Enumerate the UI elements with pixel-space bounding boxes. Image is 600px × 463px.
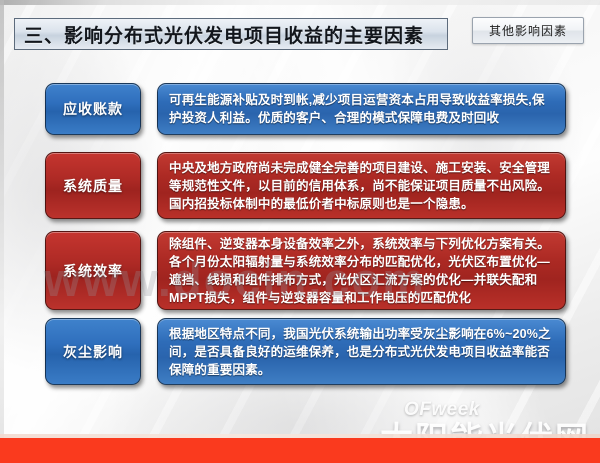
factor-row: 系统效率 除组件、逆变器本身设备效率之外，系统效率与下列优化方案有关。各个月份太… <box>45 231 566 310</box>
factor-body-text: 根据地区特点不同，我国光伏系统输出功率受灰尘影响在6%~20%之间，是否具备良好… <box>169 325 554 379</box>
factor-body-dust-impact[interactable]: 根据地区特点不同，我国光伏系统输出功率受灰尘影响在6%~20%之间，是否具备良好… <box>157 318 566 385</box>
factor-body-text: 可再生能源补贴及时到帐,减少项目运营资本占用导致收益率损失,保护投资人利益。优质… <box>169 91 554 127</box>
factor-label-text: 灰尘影响 <box>63 342 123 362</box>
factor-label-dust-impact[interactable]: 灰尘影响 <box>45 318 141 385</box>
factor-row: 应收账款 可再生能源补贴及时到帐,减少项目运营资本占用导致收益率损失,保护投资人… <box>45 83 566 135</box>
factor-label-system-efficiency[interactable]: 系统效率 <box>45 231 141 310</box>
factor-row: 系统质量 中央及地方政府尚未完成健全完善的项目建设、施工安装、安全管理等规范性文… <box>45 152 566 219</box>
factor-label-text: 应收账款 <box>63 99 123 119</box>
factor-rows: 应收账款 可再生能源补贴及时到帐,减少项目运营资本占用导致收益率损失,保护投资人… <box>0 0 600 463</box>
factor-body-text: 除组件、逆变器本身设备效率之外，系统效率与下列优化方案有关。各个月份太阳辐射量与… <box>169 235 554 307</box>
bottom-red-bar <box>0 438 600 463</box>
factor-body-system-quality[interactable]: 中央及地方政府尚未完成健全完善的项目建设、施工安装、安全管理等规范性文件，以目前… <box>157 152 566 219</box>
factor-body-system-efficiency[interactable]: 除组件、逆变器本身设备效率之外，系统效率与下列优化方案有关。各个月份太阳辐射量与… <box>157 231 566 310</box>
factor-body-text: 中央及地方政府尚未完成健全完善的项目建设、施工安装、安全管理等规范性文件，以目前… <box>169 159 554 213</box>
factor-row: 灰尘影响 根据地区特点不同，我国光伏系统输出功率受灰尘影响在6%~20%之间，是… <box>45 318 566 385</box>
factor-label-text: 系统效率 <box>63 261 123 281</box>
factor-label-text: 系统质量 <box>63 176 123 196</box>
factor-label-system-quality[interactable]: 系统质量 <box>45 152 141 219</box>
factor-body-receivables[interactable]: 可再生能源补贴及时到帐,减少项目运营资本占用导致收益率损失,保护投资人利益。优质… <box>157 83 566 135</box>
slide-canvas: 三、影响分布式光伏发电项目收益的主要因素 其他影响因素 应收账款 可再生能源补贴… <box>0 0 600 463</box>
factor-label-receivables[interactable]: 应收账款 <box>45 83 141 135</box>
